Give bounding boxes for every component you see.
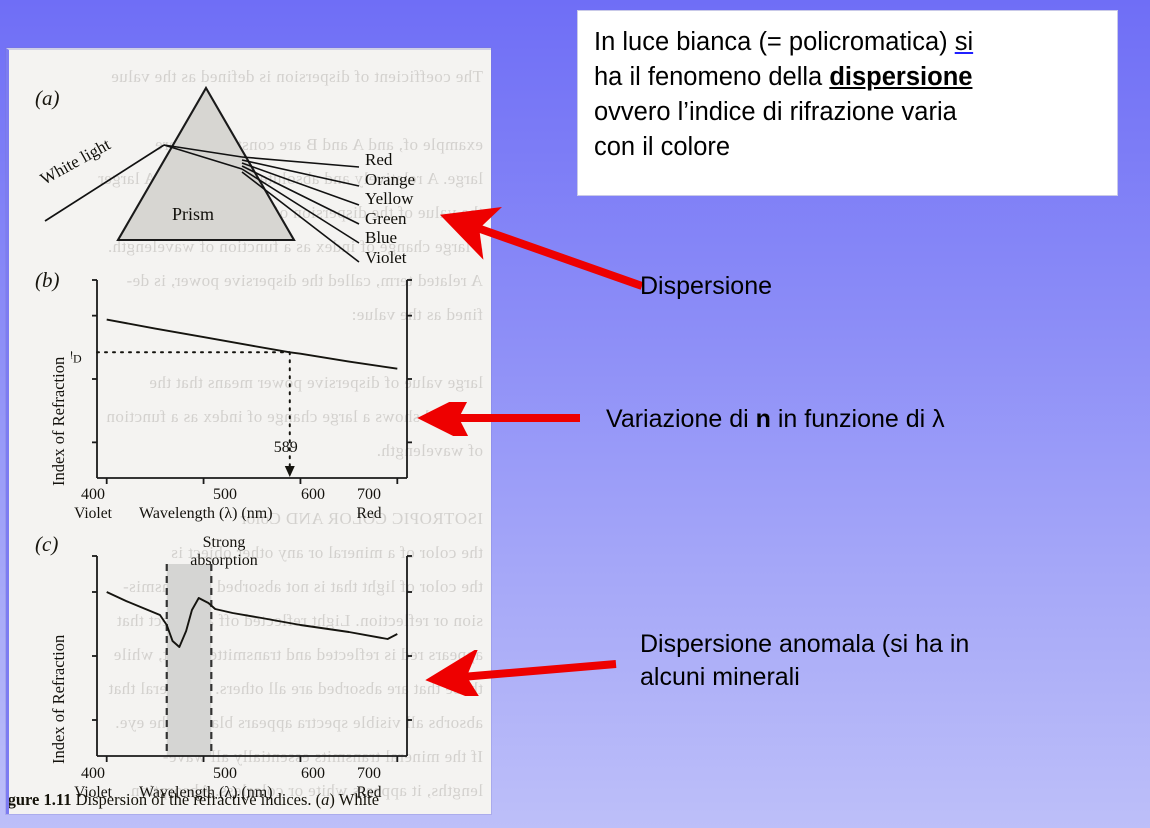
spectrum-label-orange: Orange (365, 170, 415, 190)
nd-label: nD (71, 345, 82, 365)
prism-label: Prism (172, 205, 214, 225)
chart-c-xtick-400: 400 (67, 765, 119, 783)
caption-text: Dispersion of the refractive indices. ( (76, 790, 322, 809)
chart-b-xtick-500: 500 (199, 486, 251, 504)
caption-number: 1.11 (44, 790, 72, 809)
wavelength-arrow-head (285, 466, 295, 477)
chart-b-xtick-700: 700 (343, 486, 395, 504)
chart-b-y-axis-title: Index of Refraction (49, 357, 69, 486)
wavelength-589-label: 589 (274, 439, 298, 456)
callout-2-symbol-n: n (756, 405, 771, 433)
chart-c-band-label: Strong absorption (159, 534, 289, 570)
textbox-line-4: con il colore (594, 130, 1101, 165)
chart-b-plot: nD589 (71, 270, 491, 500)
figure-caption: igure 1.11 Dispersion of the refractive … (6, 790, 491, 810)
textbox-line-1a: In luce bianca (= policromatica) (594, 28, 955, 56)
main-text-box: In luce bianca (= policromatica) si ha i… (577, 10, 1118, 196)
chart-b-xtick-sub-red: Red (341, 505, 397, 523)
dispersion-curve (107, 320, 398, 369)
textbox-si-underlined: si (955, 28, 973, 56)
chart-b-x-axis-title: Wavelength (λ) (nm) (139, 505, 273, 523)
chart-c-xtick-600: 600 (287, 765, 339, 783)
panel-c-label: (c) (35, 532, 58, 557)
callout-2-post: in funzione di λ (771, 405, 945, 433)
chart-c-y-axis-title: Index of Refraction (49, 635, 69, 764)
caption-suffix: ) White (329, 790, 379, 809)
caption-prefix: igure (6, 790, 39, 809)
spectrum-label-yellow: Yellow (365, 189, 415, 209)
textbox-line-3: ovvero l’indice di rifrazione varia (594, 95, 1101, 130)
spectrum-label-green: Green (365, 209, 415, 229)
callout-2-pre: Variazione di (606, 405, 756, 433)
spectrum-label-list: Red Orange Yellow Green Blue Violet (365, 150, 415, 267)
chart-b-xtick-400: 400 (67, 486, 119, 504)
chart-b-normal-dispersion: (b) Index of Refraction nD589 400 500 60… (9, 264, 491, 524)
callout-variazione-n: Variazione di n in funzione di λ (606, 403, 945, 436)
textbook-figure-panel: The coefficient of dispersion is defined… (6, 48, 491, 814)
chart-c-xtick-700: 700 (343, 765, 395, 783)
ray-red (242, 157, 359, 167)
textbox-line-2a: ha il fenomeno della (594, 63, 829, 91)
chart-c-anomalous-dispersion: (c) Index of Refraction Strong absorptio… (9, 528, 491, 808)
chart-b-xtick-600: 600 (287, 486, 339, 504)
spectrum-label-red: Red (365, 150, 415, 170)
dispersion-curve (107, 592, 398, 647)
textbox-line-1: In luce bianca (= policromatica) si (594, 25, 1101, 60)
spectrum-label-blue: Blue (365, 228, 415, 248)
chart-c-xtick-500: 500 (199, 765, 251, 783)
panel-b-label: (b) (35, 268, 60, 293)
textbox-dispersione-emphasis: dispersione (829, 63, 972, 91)
slide-canvas: The coefficient of dispersion is defined… (0, 0, 1150, 828)
textbox-line-2: ha il fenomeno della dispersione (594, 60, 1101, 95)
absorption-band (167, 564, 212, 756)
panel-a-prism-diagram: (a) White light Prism Red (9, 50, 491, 280)
callout-dispersione-anomala: Dispersione anomala (si ha in alcuni min… (640, 628, 969, 694)
callout-dispersione: Dispersione (640, 270, 772, 303)
chart-b-xtick-sub-violet: Violet (63, 505, 123, 523)
